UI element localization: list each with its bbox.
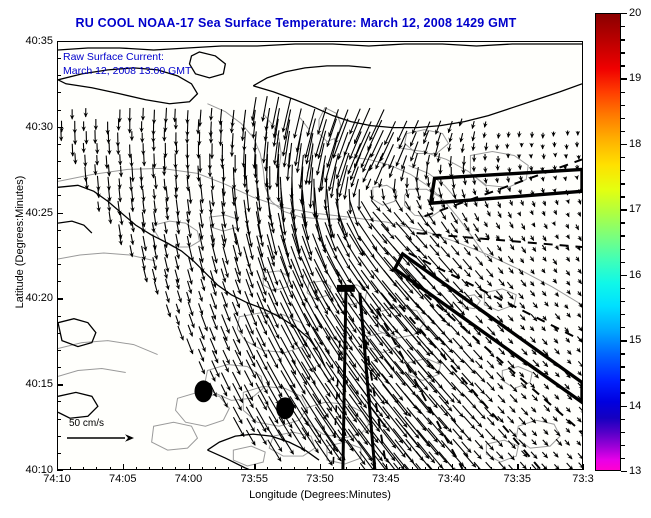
current-vector <box>544 429 548 434</box>
current-vector <box>453 178 454 189</box>
x-minor-tick <box>96 467 97 471</box>
x-tick-mark <box>123 464 124 470</box>
current-vector <box>199 326 204 339</box>
current-vector <box>220 131 221 145</box>
x-minor-tick <box>175 467 176 471</box>
colorbar-minor-tick <box>621 105 625 106</box>
current-vector <box>509 167 510 172</box>
current-vector <box>464 384 472 393</box>
current-vector <box>210 371 215 382</box>
current-vector <box>211 108 212 120</box>
x-minor-tick <box>465 467 466 471</box>
current-vector <box>144 269 147 282</box>
current-vector <box>476 257 483 266</box>
current-vector <box>522 349 528 355</box>
x-minor-tick <box>83 467 84 471</box>
current-vector <box>359 236 375 258</box>
current-vector <box>382 396 407 428</box>
current-vector <box>520 303 525 309</box>
current-vector <box>417 188 420 200</box>
current-vector <box>522 236 525 241</box>
current-vector <box>519 293 524 299</box>
current-vector <box>476 429 484 438</box>
current-vector <box>579 212 581 216</box>
current-vector <box>358 257 374 279</box>
current-vector <box>187 292 190 303</box>
current-vector <box>556 246 558 250</box>
current-vector <box>166 291 169 302</box>
current-vector <box>187 236 189 247</box>
colorbar-minor-tick <box>621 222 625 223</box>
current-vector <box>473 224 478 232</box>
current-vector <box>530 281 533 285</box>
y-minor-tick <box>57 453 61 454</box>
x-tick-mark <box>386 464 387 470</box>
current-vector <box>327 256 342 284</box>
y-axis-tick-labels: 40:3540:3040:2540:2040:1540:10 <box>0 0 53 518</box>
vector-scale-bar: 50 cm/s <box>63 418 137 447</box>
current-vector <box>542 269 545 273</box>
current-vector <box>268 440 281 461</box>
current-vector <box>198 349 203 361</box>
y-minor-tick <box>57 75 61 76</box>
current-vector <box>473 143 474 151</box>
current-vector <box>449 144 451 152</box>
x-minor-tick <box>530 467 531 471</box>
current-vector <box>567 235 569 238</box>
current-vector <box>531 211 533 215</box>
current-vector <box>486 233 490 238</box>
y-minor-tick <box>57 264 61 265</box>
current-vector <box>508 339 513 344</box>
current-vector <box>258 315 267 335</box>
current-vector <box>338 279 357 308</box>
y-minor-tick <box>57 281 61 282</box>
current-vector <box>266 108 270 130</box>
current-vector <box>383 418 403 443</box>
current-vector <box>464 247 470 255</box>
current-vector <box>519 428 526 436</box>
colorbar-minor-tick <box>621 262 625 263</box>
current-vector <box>464 156 465 166</box>
current-vector <box>246 279 253 297</box>
current-vector <box>118 201 120 215</box>
current-vector <box>426 165 427 179</box>
current-vector <box>461 133 463 142</box>
current-vector <box>396 200 403 212</box>
current-vector <box>497 178 498 183</box>
x-minor-tick <box>70 467 71 471</box>
current-vector <box>198 166 199 182</box>
current-vector <box>485 407 494 417</box>
current-vector <box>267 269 276 292</box>
current-vector <box>498 202 500 208</box>
current-vector <box>302 348 316 371</box>
current-vector <box>142 259 144 270</box>
current-vector <box>411 142 418 162</box>
current-vector <box>542 327 545 331</box>
current-vector <box>533 201 535 207</box>
current-vector <box>337 246 350 269</box>
current-vector <box>487 361 494 368</box>
current-vector <box>576 257 579 261</box>
current-vector <box>438 153 440 162</box>
colorbar-minor-tick <box>621 314 625 315</box>
current-vector <box>522 247 526 253</box>
colorbar-minor-tick <box>621 392 625 393</box>
current-vector <box>404 428 429 458</box>
colorbar-minor-tick <box>621 327 625 328</box>
current-vector <box>499 279 505 286</box>
current-vector <box>301 258 317 293</box>
current-vector <box>348 244 362 266</box>
current-vector <box>86 177 87 190</box>
current-vector <box>497 372 505 381</box>
current-vector <box>532 431 537 436</box>
current-vector <box>451 233 459 243</box>
current-vector <box>143 189 144 201</box>
current-vector <box>212 190 214 206</box>
current-vector <box>542 339 547 345</box>
current-vector <box>530 327 534 331</box>
current-vector <box>567 360 570 364</box>
current-vector <box>475 282 481 289</box>
x-minor-tick <box>136 467 137 471</box>
current-vector <box>143 200 145 213</box>
current-vector <box>508 176 509 182</box>
current-vector <box>554 269 557 273</box>
current-vector <box>246 430 255 445</box>
current-vector <box>474 350 483 360</box>
colorbar[interactable] <box>595 13 621 471</box>
current-vector <box>530 256 533 261</box>
current-vector <box>200 213 202 228</box>
current-vector <box>345 177 348 199</box>
current-vector <box>256 360 269 385</box>
current-vector <box>451 212 457 223</box>
current-vector <box>417 430 438 455</box>
current-vector <box>578 361 582 367</box>
y-minor-tick <box>57 144 61 145</box>
current-vector <box>246 269 253 288</box>
current-vector <box>578 453 582 459</box>
current-vector <box>291 429 305 451</box>
current-vector <box>530 337 535 343</box>
current-vector <box>531 270 534 274</box>
current-vector <box>497 245 501 251</box>
current-vector <box>439 337 453 353</box>
current-vector <box>188 199 190 215</box>
current-vector <box>154 200 155 212</box>
current-vector <box>567 290 570 294</box>
current-vector <box>401 167 404 181</box>
current-vector <box>413 153 417 168</box>
current-vector <box>448 121 452 133</box>
current-vector <box>498 429 506 438</box>
current-vector <box>555 303 558 307</box>
current-vector <box>417 328 432 346</box>
x-minor-tick <box>373 467 374 471</box>
current-vector <box>315 440 332 465</box>
colorbar-tick-label: 16 <box>629 269 641 281</box>
y-minor-tick <box>57 333 61 334</box>
x-tick-label: 74:05 <box>109 473 137 485</box>
current-vector <box>508 315 513 321</box>
current-vector <box>485 394 492 402</box>
x-minor-tick <box>438 467 439 471</box>
colorbar-minor-tick <box>621 52 625 53</box>
current-vector <box>418 211 428 226</box>
current-vector <box>371 200 380 211</box>
current-vector <box>485 122 486 128</box>
colorbar-minor-tick <box>621 170 625 171</box>
current-vector <box>427 360 439 374</box>
current-vector <box>280 302 293 328</box>
current-vector <box>109 212 111 224</box>
x-minor-tick <box>399 467 400 471</box>
current-vector <box>210 201 212 214</box>
current-vector <box>487 211 490 216</box>
colorbar-tick-label: 13 <box>629 465 641 477</box>
current-vector <box>486 370 494 379</box>
current-vector <box>201 188 202 203</box>
current-vector <box>510 394 517 402</box>
current-vector <box>453 258 462 269</box>
current-vector <box>363 154 371 172</box>
current-vector <box>201 279 205 291</box>
current-vector <box>370 109 384 140</box>
current-vector <box>439 417 452 432</box>
x-minor-tick <box>149 467 150 471</box>
current-vector <box>292 418 306 439</box>
current-vector <box>553 417 557 422</box>
current-vector <box>222 292 227 307</box>
current-vector <box>382 325 400 348</box>
current-vector <box>519 417 526 424</box>
current-vector <box>531 236 534 241</box>
current-vector <box>474 177 475 184</box>
x-tick-mark <box>189 464 190 470</box>
current-vector <box>498 406 504 413</box>
y-minor-tick <box>57 195 61 196</box>
current-vector <box>463 394 476 408</box>
map-plot-area[interactable]: Raw Surface Current: March 12, 2008 13:0… <box>57 41 583 470</box>
current-vector <box>487 247 493 255</box>
colorbar-minor-tick <box>621 432 625 433</box>
current-vector <box>533 223 535 227</box>
current-vector <box>212 316 217 330</box>
current-vector <box>498 212 501 218</box>
x-minor-tick <box>267 467 268 471</box>
current-vector <box>316 224 326 252</box>
x-minor-tick <box>281 467 282 471</box>
current-vector <box>349 234 362 256</box>
colorbar-minor-tick <box>621 131 625 132</box>
current-vector <box>370 325 393 354</box>
current-vector <box>567 281 570 285</box>
current-vector <box>556 439 562 445</box>
current-vector <box>578 314 581 318</box>
current-vector <box>508 256 513 263</box>
current-vector <box>520 462 526 469</box>
current-vector <box>498 268 503 274</box>
current-vector <box>577 348 580 352</box>
current-vector <box>188 325 192 336</box>
current-vector <box>577 418 581 422</box>
current-vector <box>187 177 188 191</box>
x-tick-label: 73:55 <box>240 473 268 485</box>
y-axis-title: Latitude (Degrees:Minutes) <box>14 142 26 342</box>
current-vector <box>565 177 566 181</box>
current-vector <box>543 257 546 261</box>
current-vector <box>177 291 181 303</box>
current-vector <box>85 155 86 167</box>
current-vector <box>532 395 537 401</box>
current-vector <box>577 176 578 179</box>
colorbar-tick-label: 14 <box>629 400 641 412</box>
current-vector <box>243 143 244 167</box>
colorbar-tick-mark <box>621 78 627 79</box>
current-vector <box>143 236 146 251</box>
current-vector <box>166 279 169 290</box>
colorbar-minor-tick <box>621 458 625 459</box>
x-tick-mark <box>320 464 321 470</box>
y-minor-tick <box>57 419 61 420</box>
colorbar-minor-tick <box>621 379 625 380</box>
current-vector <box>520 315 525 321</box>
current-vector <box>120 154 121 165</box>
current-vector <box>75 153 76 164</box>
current-vector <box>486 348 494 357</box>
current-vector <box>462 144 463 152</box>
current-vector <box>556 293 559 297</box>
current-vector <box>509 268 513 274</box>
current-vector <box>428 338 445 358</box>
current-vector <box>509 236 513 242</box>
current-vector <box>166 305 170 317</box>
current-vector <box>530 383 534 388</box>
current-vector <box>131 234 133 245</box>
colorbar-tick-label: 17 <box>629 203 641 215</box>
current-vector <box>405 372 423 393</box>
current-vector <box>131 154 132 166</box>
colorbar-minor-tick <box>621 65 625 66</box>
current-vector <box>554 279 557 283</box>
current-vector <box>510 244 514 249</box>
current-vector <box>394 212 405 225</box>
y-minor-tick <box>57 401 61 402</box>
current-vector <box>153 257 156 270</box>
current-vector <box>187 212 189 223</box>
current-vector <box>428 177 429 187</box>
current-vector <box>463 453 475 467</box>
current-vector <box>543 361 548 367</box>
current-vector <box>200 200 202 213</box>
current-vector <box>267 305 278 328</box>
current-vector <box>199 291 202 301</box>
current-vector <box>428 406 447 429</box>
current-vector <box>428 428 445 448</box>
colorbar-minor-tick <box>621 183 625 184</box>
current-vector <box>475 440 483 449</box>
current-vector <box>533 247 536 251</box>
y-minor-tick <box>57 316 61 317</box>
current-vector <box>519 212 521 216</box>
current-vector <box>566 428 570 432</box>
current-vector <box>486 269 493 277</box>
colorbar-minor-tick <box>621 353 625 354</box>
current-vector <box>555 210 557 214</box>
current-vector <box>579 407 582 413</box>
current-vector <box>380 132 393 161</box>
x-axis-title: Longitude (Degrees:Minutes) <box>57 489 583 501</box>
current-vector <box>510 222 513 228</box>
current-vector <box>154 189 155 199</box>
current-vector <box>154 211 156 226</box>
colorbar-tick-mark <box>621 275 627 276</box>
current-vector <box>106 156 107 169</box>
current-vector <box>189 314 194 328</box>
current-vector <box>175 109 176 122</box>
current-vector <box>424 131 429 144</box>
colorbar-minor-tick <box>621 26 625 27</box>
current-vector <box>509 429 516 437</box>
current-vector <box>566 270 569 275</box>
current-vector <box>235 233 240 256</box>
current-vector <box>519 440 526 448</box>
current-vector <box>544 201 546 206</box>
current-vector <box>566 338 570 342</box>
y-tick-label: 40:15 <box>25 378 53 390</box>
y-tick-mark <box>57 41 63 42</box>
current-vector <box>294 108 301 138</box>
current-vector <box>375 167 383 185</box>
current-vector <box>531 452 537 459</box>
x-minor-tick <box>228 467 229 471</box>
current-vector <box>188 281 192 294</box>
x-minor-tick <box>412 467 413 471</box>
current-vector <box>353 179 358 197</box>
x-minor-tick <box>333 467 334 471</box>
current-vector <box>485 201 488 208</box>
y-tick-mark <box>57 127 63 128</box>
y-tick-label: 40:30 <box>25 121 53 133</box>
y-tick-mark <box>57 384 63 385</box>
current-vector <box>543 440 548 446</box>
y-minor-tick <box>57 58 61 59</box>
x-tick-label: 73:3 <box>572 473 593 485</box>
scale-bar-arrow <box>63 432 137 444</box>
current-vector <box>370 339 395 371</box>
current-vector <box>473 417 481 427</box>
colorbar-minor-tick <box>621 118 625 119</box>
current-vector <box>164 269 166 278</box>
current-vector <box>363 165 371 183</box>
current-vector <box>475 270 483 279</box>
y-minor-tick <box>57 92 61 93</box>
current-vector <box>485 429 495 440</box>
current-vector <box>247 189 249 212</box>
current-vector <box>521 258 524 262</box>
current-vector <box>268 325 283 354</box>
current-vector <box>474 394 483 404</box>
current-vector <box>531 314 537 321</box>
current-vector <box>176 315 179 325</box>
current-vector <box>578 269 581 273</box>
current-vector <box>119 178 120 188</box>
current-vector <box>520 176 521 181</box>
current-vector <box>531 407 536 412</box>
